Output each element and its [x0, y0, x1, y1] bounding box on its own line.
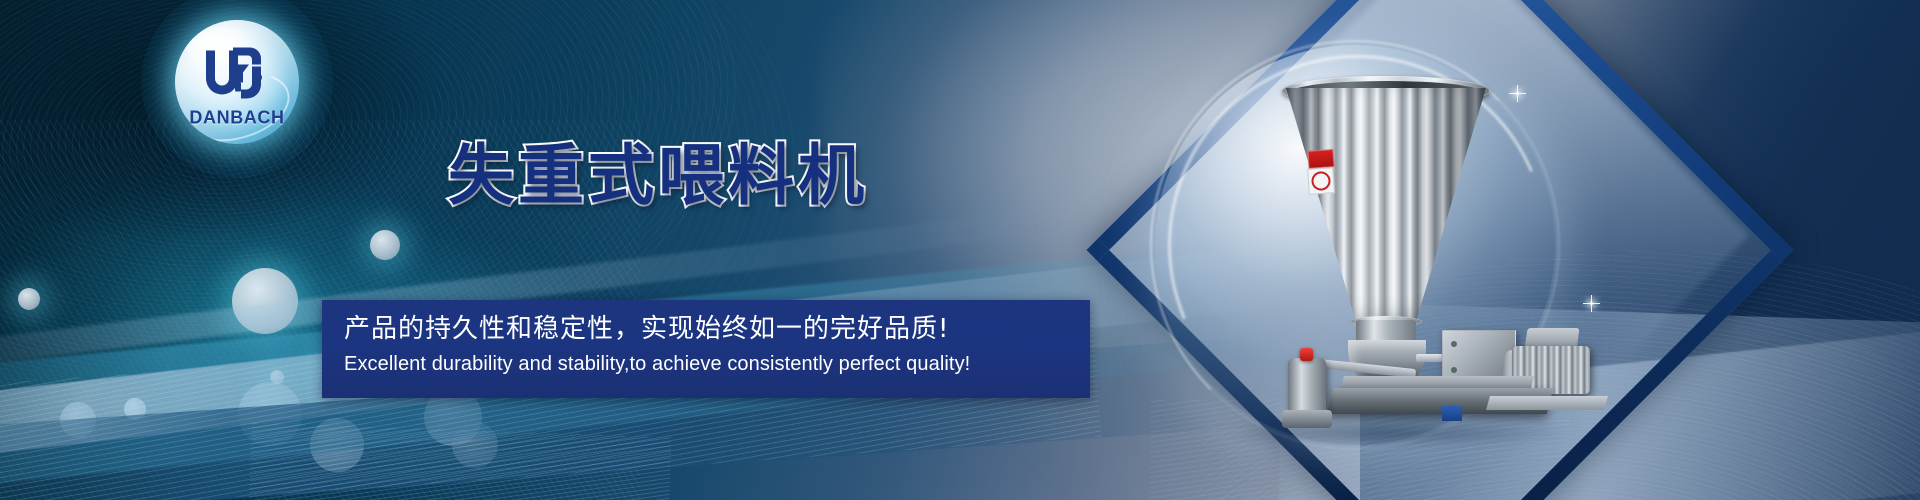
logo-wordmark: DANBACH [189, 107, 284, 128]
subtitle-panel: 产品的持久性和稳定性，实现始终如一的完好品质! Excellent durabi… [322, 300, 1090, 398]
loss-in-weight-feeder-machine [1190, 58, 1610, 438]
bokeh-circle [18, 288, 40, 310]
page-title: 失重式喂料机 [448, 122, 868, 218]
hopper-shading [1286, 88, 1486, 328]
red-indicator-knob [1300, 348, 1313, 361]
subtitle-english: Excellent durability and stability,to ac… [344, 351, 1090, 378]
hatch-fan-left [249, 423, 672, 500]
machine-base-rail [1486, 396, 1608, 410]
bokeh-circle [370, 230, 400, 260]
no-entry-icon [1307, 167, 1335, 195]
warning-label [1307, 149, 1334, 169]
load-cell-leg [1288, 358, 1326, 416]
product-banner: DANBACH 失重式喂料机 产品的持久性和稳定性，实现始终如一的完好品质! E… [0, 0, 1920, 500]
danbach-monogram-icon [200, 44, 274, 105]
subtitle-chinese: 产品的持久性和稳定性，实现始终如一的完好品质! [344, 313, 1090, 346]
blue-component-tag [1442, 406, 1462, 421]
brand-logo[interactable]: DANBACH [175, 20, 299, 144]
load-cell-foot [1282, 410, 1332, 428]
